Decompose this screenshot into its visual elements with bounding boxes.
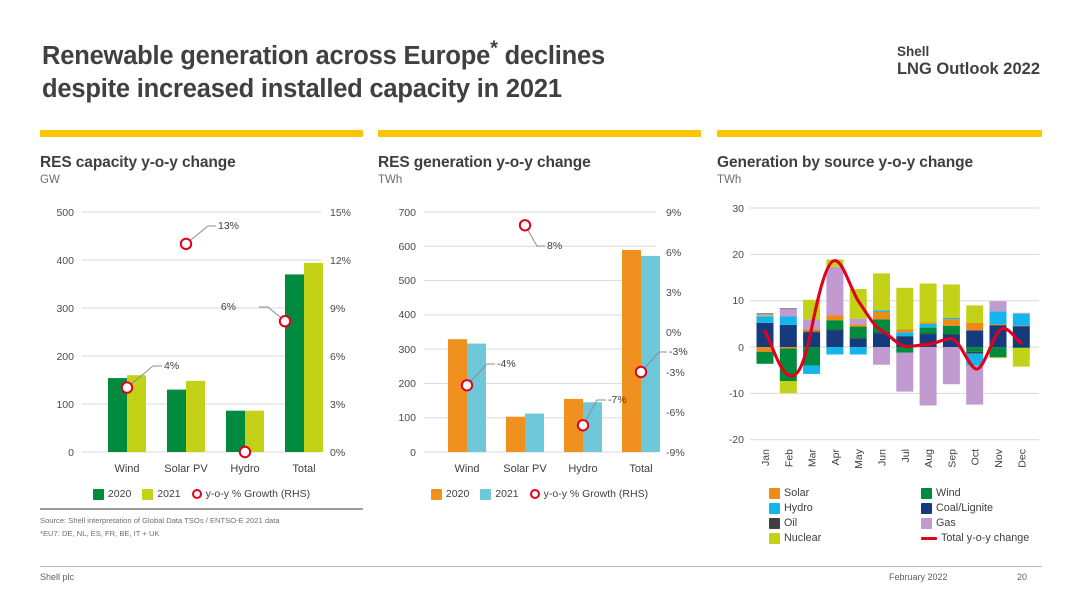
chart-2-legend: 2020 2021 y-o-y % Growth (RHS) [378,488,701,500]
source-note: Source: Shell interpretation of Global D… [40,515,460,540]
brand-shell: Shell [897,44,1040,60]
marker-growth-total [636,367,646,377]
seg-gas-apr [826,267,843,315]
swatch-nuclear-icon [769,533,780,544]
swatch-wind-icon [921,488,932,499]
bar-2021-wind [467,344,486,452]
swatch-2021-icon [142,489,153,500]
legend-item-total-line: Total y-o-y change [921,532,1080,544]
seg-solar-sep [943,319,960,326]
stack-feb [780,308,797,393]
svg-text:9%: 9% [330,303,345,315]
chart-1-datalabels: 4% 13% 6% [164,220,239,372]
seg-hydro-sep [943,318,960,319]
svg-text:-20: -20 [729,434,744,446]
label-growth-solarpv: 8% [547,240,562,252]
chart-1-svg: 500 400 300 200 100 0 15% 12% 9% 6% 3% 0… [40,194,363,484]
xtick-wind: Wind [114,463,139,475]
xtick-sep: Sep [946,449,958,468]
svg-text:0: 0 [738,342,744,354]
svg-text:10: 10 [732,295,744,307]
xtick-wind: Wind [454,463,479,475]
bar-2021-solarpv [525,414,544,452]
source-line-2: *EU7: DE, NL, ES, FR, BE, IT + UK [40,528,460,541]
seg-wind-aug [920,328,937,335]
chart-3-plot: 30 20 10 0 -10 -20 [717,194,1042,484]
seg-nuclear-aug [920,284,937,323]
seg-solar-jun [873,312,890,319]
chart-1-legend: 2020 2021 y-o-y % Growth (RHS) [40,488,363,500]
swatch-2020-icon [93,489,104,500]
seg-gas-may [850,319,867,325]
accent-rule [378,130,701,137]
brand-report: LNG Outlook 2022 [897,60,1040,79]
chart-2-yaxis: 700 600 500 400 300 200 100 0 [398,207,416,459]
seg-coal-oct [966,330,983,347]
title-asterisk: * [490,38,498,60]
seg-hydro-feb [780,317,797,325]
xtick-hydro: Hydro [568,463,597,475]
svg-text:6%: 6% [666,247,681,259]
stack-jan [757,313,774,363]
chart-1-plot: 500 400 300 200 100 0 15% 12% 9% 6% 3% 0… [40,194,363,484]
xtick-jun: Jun [877,449,889,466]
svg-text:100: 100 [56,399,74,411]
seg-coal-feb [780,325,797,347]
seg-gas-nov [990,301,1007,311]
legend-item-growth: y-o-y % Growth (RHS) [530,488,648,500]
legend-item-oil: Oil [769,517,921,529]
legend-label-wind: Wind [936,487,961,499]
xtick-solarpv: Solar PV [503,463,547,475]
seg-nuclear-may [850,289,867,319]
chart-3-unit: TWh [717,174,1042,186]
chart-3-xaxis: Jan Feb Mar Apr May Jun Jul Aug Sep Oct … [760,448,1028,469]
legend-label-oil: Oil [784,517,797,529]
svg-text:20: 20 [732,249,744,261]
seg-hydro-dec [1013,314,1030,326]
marker-growth-hydro [578,420,588,430]
chart-2-svg: 700 600 500 400 300 200 100 0 9% 6% 3% 0… [378,194,701,484]
svg-text:3%: 3% [330,399,345,411]
open-circle-icon [530,489,540,499]
swatch-coal-icon [921,503,932,514]
legend-item-2021: 2021 [480,488,518,500]
legend-item-2021: 2021 [142,488,180,500]
legend-label-coal: Coal/Lignite [936,502,993,514]
svg-text:700: 700 [398,207,416,219]
seg-wind-jul [896,347,913,353]
svg-text:300: 300 [56,303,74,315]
seg-oil-jul [896,336,913,337]
chart-3-stacked-bars [757,260,1030,406]
xtick-total: Total [629,463,652,475]
svg-text:-10: -10 [729,388,744,400]
swatch-oil-icon [769,518,780,529]
seg-nuclear-sep [943,284,960,317]
swatch-2020-icon [431,489,442,500]
label-growth-wind: -4% [497,358,516,370]
seg-hydro-mar [803,366,820,374]
source-line-1: Source: Shell interpretation of Global D… [40,515,460,528]
seg-solar-apr [826,315,843,320]
svg-text:400: 400 [398,309,416,321]
marker-growth-total [280,316,290,326]
label-growth-total: -3% [669,346,688,358]
bar-2020-solarpv [167,390,186,452]
xtick-hydro: Hydro [230,463,259,475]
svg-text:3%: 3% [666,287,681,299]
legend-item-gas: Gas [921,517,1080,529]
seg-gas-jul [896,353,913,392]
chart-2-plot: 700 600 500 400 300 200 100 0 9% 6% 3% 0… [378,194,701,484]
seg-nuclear-dec [1013,348,1030,367]
seg-nuclear-jan [757,316,774,317]
seg-wind-may [850,327,867,339]
chart-1-unit: GW [40,174,363,186]
seg-nuclear-feb [780,381,797,393]
seg-hydro-nov [990,311,1007,324]
bar-2021-solarpv [186,381,205,452]
seg-nuclear-jun [873,273,890,310]
stack-jul [896,288,913,392]
seg-gas-jun [873,347,890,365]
legend-item-solar: Solar [769,487,921,499]
seg-oil-nov [990,325,1007,326]
label-growth-total: 6% [221,301,236,313]
seg-hydro-may [850,347,867,354]
xtick-apr: Apr [830,449,842,466]
bar-2020-total [622,250,641,452]
slide: Renewable generation across Europe* decl… [0,0,1080,607]
legend-label-growth: y-o-y % Growth (RHS) [544,488,648,500]
svg-text:15%: 15% [330,207,351,219]
svg-text:600: 600 [398,241,416,253]
svg-text:400: 400 [56,255,74,267]
marker-growth-hydro [240,447,250,457]
bar-2021-hydro [245,411,264,452]
source-divider [40,508,363,510]
marker-growth-wind [122,382,132,392]
chart-3-legend: Solar Wind Hydro Coal/Lignite Oil Gas [717,487,1042,544]
label-growth-wind: 4% [164,360,179,372]
legend-label-hydro: Hydro [784,502,813,514]
svg-text:500: 500 [398,275,416,287]
xtick-feb: Feb [783,449,795,467]
swatch-solar-icon [769,488,780,499]
seg-hydro-jun [873,311,890,312]
seg-wind-jan [757,352,774,364]
seg-oil-dec [1013,326,1030,327]
xtick-jan: Jan [760,449,772,466]
swatch-2021-icon [480,489,491,500]
svg-text:9%: 9% [666,207,681,219]
seg-solar-aug [920,323,937,324]
xtick-dec: Dec [1016,449,1028,468]
xtick-oct: Oct [970,449,982,465]
footer-page-number: 20 [1017,572,1027,582]
chart-2-xaxis: Wind Solar PV Hydro Total [454,463,652,475]
seg-oil-aug [920,333,937,334]
swatch-hydro-icon [769,503,780,514]
chart-2-y2axis: 9% 6% 3% 0% -3% -6% -9% [666,207,685,459]
svg-text:0%: 0% [666,327,681,339]
seg-nuclear-oct [966,305,983,323]
seg-solar-feb [780,347,797,348]
svg-text:12%: 12% [330,255,351,267]
title-line-2: despite increased installed capacity in … [42,75,562,103]
legend-label-nuclear: Nuclear [784,532,821,544]
seg-solar-may [850,324,867,326]
panel-res-generation: RES generation y-o-y change TWh 700 600 [378,130,701,500]
seg-nuclear-nov [990,357,1007,358]
xtick-nov: Nov [993,448,1005,467]
xtick-aug: Aug [923,449,935,468]
legend-label-growth: y-o-y % Growth (RHS) [206,488,310,500]
chart-3-title: Generation by source y-o-y change [717,154,1042,171]
chart-3-yaxis: 30 20 10 0 -10 -20 [729,203,744,446]
title-line-1b: declines [498,42,605,70]
panel-res-capacity: RES capacity y-o-y change GW 500 400 300 [40,130,363,500]
stack-oct [966,305,983,404]
seg-wind-apr [826,320,843,330]
legend-item-coal: Coal/Lignite [921,502,1080,514]
stack-jun [873,273,890,364]
svg-text:0: 0 [68,447,74,459]
svg-text:6%: 6% [330,351,345,363]
chart-2-unit: TWh [378,174,701,186]
svg-text:-3%: -3% [666,367,685,379]
bar-2020-total [285,274,304,452]
xtick-total: Total [292,463,315,475]
page-title: Renewable generation across Europe* decl… [42,40,722,105]
seg-solar-jul [896,330,913,333]
bar-2021-total [304,263,323,452]
footer-company: Shell plc [40,572,74,582]
chart-1-y2axis: 15% 12% 9% 6% 3% 0% [330,207,351,459]
chart-1-xaxis: Wind Solar PV Hydro Total [114,463,315,475]
legend-item-hydro: Hydro [769,502,921,514]
xtick-solarpv: Solar PV [164,463,208,475]
chart-1-yaxis: 500 400 300 200 100 0 [56,207,74,459]
footer-date: February 2022 [889,572,948,582]
seg-oil-feb [780,308,797,309]
xtick-jul: Jul [900,449,912,462]
stack-apr [826,260,843,355]
seg-gas-dec [1013,313,1030,314]
accent-rule [717,130,1042,137]
seg-gas-oct [966,366,983,405]
label-growth-solarpv: 13% [218,220,239,232]
svg-text:-9%: -9% [666,447,685,459]
seg-gas-sep [943,347,960,384]
svg-text:500: 500 [56,207,74,219]
marker-growth-solarpv [181,239,191,249]
footer-divider [40,566,1042,567]
legend-label-gas: Gas [936,517,956,529]
svg-text:100: 100 [398,412,416,424]
title-line-1: Renewable generation across Europe [42,42,490,70]
bar-2020-hydro [226,411,245,452]
seg-wind-sep [943,326,960,335]
seg-nuclear-jul [896,288,913,330]
stack-sep [943,284,960,384]
seg-oil-oct [966,352,983,354]
seg-coal-may [850,339,867,347]
seg-gas-aug [920,347,937,405]
label-growth-hydro: -7% [608,394,627,406]
seg-wind-nov [990,347,1007,357]
seg-hydro-aug [920,324,937,328]
seg-oil-may [850,338,867,339]
chart-1-bars [108,263,323,452]
accent-rule [40,130,363,137]
brand-lockup: Shell LNG Outlook 2022 [897,44,1040,79]
svg-text:0%: 0% [330,447,345,459]
svg-text:30: 30 [732,203,744,215]
legend-label-2020: 2020 [108,488,131,500]
chart-1-leaders [127,226,285,388]
seg-oil-apr [826,330,843,331]
seg-coal-apr [826,330,843,347]
xtick-mar: Mar [807,449,819,468]
chart-1-markers [122,239,290,458]
chart-1-title: RES capacity y-o-y change [40,154,363,171]
legend-label-2021: 2021 [157,488,180,500]
legend-label-2021: 2021 [495,488,518,500]
bar-2020-solarpv [506,417,525,452]
svg-text:300: 300 [398,344,416,356]
svg-text:0: 0 [410,447,416,459]
seg-oil-sep [943,334,960,335]
seg-solar-oct [966,323,983,330]
seg-wind-dec [1013,347,1030,348]
legend-label-2020: 2020 [446,488,469,500]
stack-mar [803,300,820,374]
svg-text:-6%: -6% [666,407,685,419]
seg-gas-jan [757,314,774,315]
svg-text:200: 200 [56,351,74,363]
legend-item-2020: 2020 [93,488,131,500]
legend-label-solar: Solar [784,487,809,499]
marker-growth-solarpv [520,220,530,230]
swatch-gas-icon [921,518,932,529]
legend-item-wind: Wind [921,487,1080,499]
seg-hydro-jan [757,316,774,323]
legend-label-total-line: Total y-o-y change [941,532,1029,544]
bar-2020-wind [448,339,467,452]
seg-oil-jan [757,313,774,314]
xtick-may: May [853,448,865,469]
panel-generation-by-source: Generation by source y-o-y change TWh 30… [717,130,1042,544]
legend-item-2020: 2020 [431,488,469,500]
legend-item-nuclear: Nuclear [769,532,921,544]
seg-hydro-apr [826,347,843,354]
line-swatch-icon [921,537,937,540]
chart-3-svg: 30 20 10 0 -10 -20 [717,194,1042,484]
chart-2-title: RES generation y-o-y change [378,154,701,171]
marker-growth-wind [462,380,472,390]
svg-text:200: 200 [398,378,416,390]
open-circle-icon [192,489,202,499]
legend-item-growth: y-o-y % Growth (RHS) [192,488,310,500]
seg-wind-oct [966,347,983,352]
seg-gas-feb [780,309,797,316]
